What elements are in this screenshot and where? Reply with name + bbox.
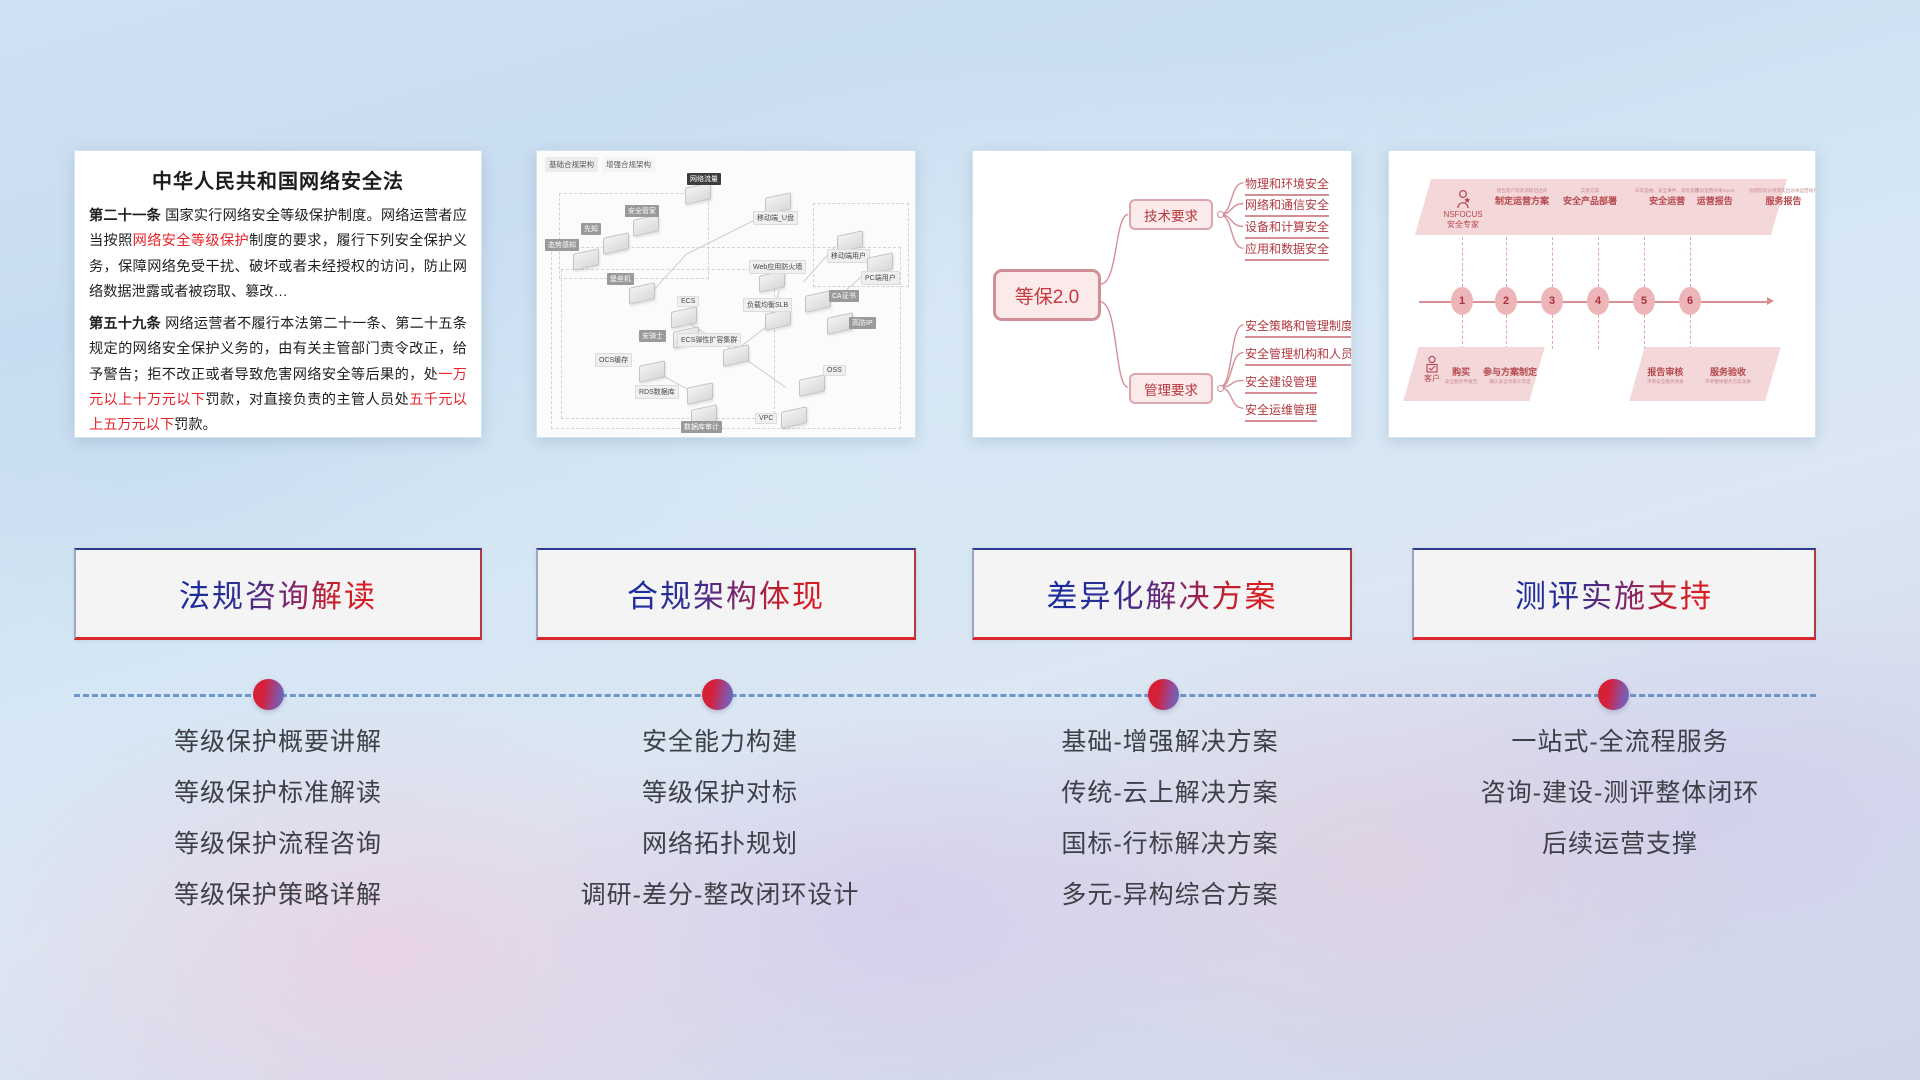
arch-node[interactable]: OSS xyxy=(799,377,825,394)
card-dengbao-mindmap[interactable]: 等保2.0 技术要求 管理要求 物理和环境安全网络和通信安全设备和计算安全应用和… xyxy=(972,150,1352,438)
law-text-run: 罚款。 xyxy=(174,417,217,433)
process-dash-down xyxy=(1462,315,1463,349)
process-dash-down xyxy=(1598,315,1599,349)
arch-node[interactable]: PC端用户 xyxy=(867,255,893,272)
customer-label: 客户 xyxy=(1415,374,1449,384)
mindmap-leaf[interactable]: 安全管理机构和人员 xyxy=(1245,345,1352,366)
detail-list-item: 等级保护策略详解 xyxy=(74,883,482,908)
process-top-item[interactable]: 实施方案安全产品部署 xyxy=(1563,187,1617,207)
arch-node-label: 态势感知 xyxy=(545,239,579,251)
process-band-customer-right: 报告审核评审安全服务效果服务验收评审整体服务方案效果 xyxy=(1629,347,1780,401)
process-band-customer-left: 客户 购买安全服务申报告参与方案制定确认安全项目计年度 xyxy=(1403,347,1544,401)
timeline xyxy=(0,660,1920,730)
process-step-2[interactable]: 2 xyxy=(1495,287,1517,315)
arch-node-label: OSS xyxy=(823,365,846,376)
detail-list-item: 基础-增强解决方案 xyxy=(960,730,1380,755)
arch-node[interactable]: RDS数据库 xyxy=(687,385,713,402)
process-dash-down xyxy=(1644,315,1645,349)
process-bottom-item[interactable]: 服务验收评审整体服务方案效果 xyxy=(1705,365,1751,385)
process-diagram: NSFOCUS 安全专家 结合客户现状调研后出具制定运营方案实施方案安全产品部署… xyxy=(1389,151,1815,437)
mindmap-leaf[interactable]: 安全策略和管理制度 xyxy=(1245,317,1352,338)
header-label-1: 合规架构体现 xyxy=(627,571,825,616)
arch-node-label: 高防IP xyxy=(849,317,876,329)
mindmap-leaf[interactable]: 网络和通信安全 xyxy=(1245,196,1329,217)
top-card-row: 中华人民共和国网络安全法 第二十一条 国家实行网络安全等级保护制度。网络运营者应… xyxy=(0,0,1920,470)
header-box-assessment-support[interactable]: 测评实施支持 xyxy=(1412,548,1816,640)
arch-node-icon xyxy=(799,374,825,397)
arch-node-label: 网络流量 xyxy=(687,173,721,185)
arch-node-label: 安全管家 xyxy=(625,205,659,217)
arch-node[interactable]: OCS缓存 xyxy=(639,363,665,380)
detail-list-column-1: 安全能力构建等级保护对标网络拓扑规划调研-差分-整改闭环设计 xyxy=(510,730,930,934)
arch-node[interactable]: Web应用防火墙 xyxy=(759,273,785,290)
law-article-number: 第五十九条 xyxy=(89,316,161,332)
header-label-0: 法规咨询解读 xyxy=(179,571,377,616)
process-step-3[interactable]: 3 xyxy=(1541,287,1563,315)
process-provider-brand: NSFOCUS 安全专家 xyxy=(1433,189,1493,230)
detail-list-item: 等级保护标准解读 xyxy=(74,781,482,806)
arch-node-icon xyxy=(633,214,659,237)
arch-node[interactable]: 安全管家 xyxy=(633,217,659,234)
process-dash-down xyxy=(1690,315,1691,349)
process-item-sub: 评审安全服务效果 xyxy=(1647,379,1684,385)
detail-list-item: 调研-差分-整改闭环设计 xyxy=(510,883,930,908)
process-item-caption: 安全产品部署 xyxy=(1563,194,1617,207)
arch-tab-basic[interactable]: 基础合规架构 xyxy=(545,157,598,172)
process-step-1[interactable]: 1 xyxy=(1451,287,1473,315)
arch-node[interactable]: 高防IP xyxy=(827,315,853,332)
process-step-5[interactable]: 5 xyxy=(1633,287,1655,315)
arch-node-label: Web应用防火墙 xyxy=(749,260,806,274)
arch-node-icon xyxy=(603,232,629,255)
header-box-compliance-architecture[interactable]: 合规架构体现 xyxy=(536,548,916,640)
process-item-sub: 评审整体服务方案效果 xyxy=(1705,379,1751,385)
mindmap-branch-technical[interactable]: 技术要求 xyxy=(1129,199,1213,230)
process-dash-up xyxy=(1552,237,1553,287)
arch-node-label: 数据库审计 xyxy=(681,421,722,433)
arch-node[interactable]: 移动端_U盘 xyxy=(765,195,791,212)
arch-node-label: RDS数据库 xyxy=(635,385,679,399)
process-dash-up xyxy=(1598,237,1599,287)
arch-node-label: 移动端用户 xyxy=(827,249,870,263)
mindmap-diagram: 等保2.0 技术要求 管理要求 物理和环境安全网络和通信安全设备和计算安全应用和… xyxy=(973,151,1351,437)
arch-node-label: ECS弹性扩容集群 xyxy=(677,333,741,347)
process-item-caption: 运营报告 xyxy=(1695,194,1735,207)
process-item-caption: 参与方案制定 xyxy=(1483,365,1537,378)
arch-node-label: 堡垒机 xyxy=(607,273,634,285)
process-item-caption: 报告审核 xyxy=(1647,365,1684,378)
arch-node-label: PC端用户 xyxy=(861,271,900,285)
process-item-caption: 服务报告 xyxy=(1749,194,1816,207)
process-item-sub: 确认安全项目计年度 xyxy=(1483,379,1537,385)
arch-node[interactable]: CA证书 xyxy=(805,293,831,310)
detail-list-item: 网络拓扑规划 xyxy=(510,832,930,857)
process-top-item[interactable]: 日常运维、安全事件、高危处理安全运营 xyxy=(1635,187,1699,207)
process-top-item[interactable]: 阶段运营效果report运营报告 xyxy=(1695,187,1735,207)
mindmap-root-node[interactable]: 等保2.0 xyxy=(993,269,1101,321)
arch-node[interactable]: VPC xyxy=(781,409,807,426)
expert-person-icon xyxy=(1454,189,1472,209)
detail-list-item: 等级保护概要讲解 xyxy=(74,730,482,755)
process-dash-up xyxy=(1690,237,1691,287)
arch-node-icon xyxy=(573,248,599,271)
architecture-tabs: 基础合规架构 增强合规架构 xyxy=(545,157,655,172)
law-card-title: 中华人民共和国网络安全法 xyxy=(75,151,481,204)
arch-node[interactable]: 负载均衡SLB xyxy=(765,311,791,328)
detail-list-column-3: 一站式-全流程服务咨询-建设-测评整体闭环后续运营支撑 xyxy=(1410,730,1830,883)
card-service-process[interactable]: NSFOCUS 安全专家 结合客户现状调研后出具制定运营方案实施方案安全产品部署… xyxy=(1388,150,1816,438)
law-paragraph: 第五十九条 网络运营者不履行本法第二十一条、第二十五条规定的网络安全保护义务的，… xyxy=(89,312,467,438)
arch-node-label: VPC xyxy=(755,413,777,424)
arch-node-icon xyxy=(629,282,655,305)
timeline-dashed-line xyxy=(74,694,1816,697)
mindmap-leaf[interactable]: 安全运维管理 xyxy=(1245,401,1317,422)
detail-list-item: 等级保护流程咨询 xyxy=(74,832,482,857)
process-step-4[interactable]: 4 xyxy=(1587,287,1609,315)
arch-node-icon xyxy=(671,306,697,329)
process-band-provider: NSFOCUS 安全专家 结合客户现状调研后出具制定运营方案实施方案安全产品部署… xyxy=(1415,179,1787,235)
timeline-dot-0[interactable] xyxy=(253,679,284,710)
detail-list-item: 后续运营支撑 xyxy=(1410,832,1830,857)
process-bottom-item[interactable]: 报告审核评审安全服务效果 xyxy=(1647,365,1684,385)
process-step-6[interactable]: 6 xyxy=(1679,287,1701,315)
mindmap-leaf[interactable]: 安全建设管理 xyxy=(1245,373,1317,394)
mindmap-collapse-dot-mgmt[interactable] xyxy=(1217,385,1224,392)
process-dash-down xyxy=(1506,315,1507,349)
process-item-caption: 购买 xyxy=(1445,365,1477,378)
mindmap-branch-management[interactable]: 管理要求 xyxy=(1129,373,1213,404)
arch-node[interactable]: 态势感知 xyxy=(573,251,599,268)
arch-node[interactable]: 网络流量 xyxy=(685,185,711,202)
detail-list-item: 多元-异构综合方案 xyxy=(960,883,1380,908)
law-text-highlight: 网络安全等级保护 xyxy=(133,233,249,249)
arch-node[interactable]: 先知 xyxy=(603,235,629,252)
arch-node-icon xyxy=(687,382,713,405)
arch-node-label: 先知 xyxy=(581,223,601,235)
process-dash-up xyxy=(1506,237,1507,287)
arch-node-icon xyxy=(639,360,665,383)
detail-list-column-0: 等级保护概要讲解等级保护标准解读等级保护流程咨询等级保护策略详解 xyxy=(74,730,482,934)
process-dash-down xyxy=(1552,315,1553,349)
arch-node-icon xyxy=(781,406,807,429)
process-top-item[interactable]: 结合客户现状调研后出具制定运营方案 xyxy=(1495,187,1549,207)
arch-tab-enhanced[interactable]: 增强合规架构 xyxy=(602,157,655,172)
brand-line-1: NSFOCUS xyxy=(1433,210,1493,220)
process-item-sub: 安全服务申报告 xyxy=(1445,379,1477,385)
mindmap-leaf[interactable]: 物理和环境安全 xyxy=(1245,175,1329,196)
law-text-run: 罚款，对直接负责的主管人员处 xyxy=(205,392,409,408)
architecture-diagram: 基础合规架构 增强合规架构 网络流量安全管家先知态势感知堡垒机ECS安骑士OCS… xyxy=(537,151,915,437)
timeline-dot-3[interactable] xyxy=(1598,679,1629,710)
process-item-caption: 安全运营 xyxy=(1635,194,1699,207)
header-box-row: 法规咨询解读 合规架构体现 差异化解决方案 测评实施支持 xyxy=(0,548,1920,648)
arch-node[interactable]: 堡垒机 xyxy=(629,285,655,302)
process-bottom-item[interactable]: 购买安全服务申报告 xyxy=(1445,365,1477,385)
law-card-body: 第二十一条 国家实行网络安全等级保护制度。网络运营者应当按照网络安全等级保护制度… xyxy=(75,204,481,438)
header-label-3: 测评实施支持 xyxy=(1515,571,1713,616)
process-item-caption: 服务验收 xyxy=(1705,365,1751,378)
process-customer-brand: 客户 xyxy=(1415,355,1449,384)
law-paragraph: 第二十一条 国家实行网络安全等级保护制度。网络运营者应当按照网络安全等级保护制度… xyxy=(89,204,467,305)
mindmap-leaf[interactable]: 应用和数据安全 xyxy=(1245,240,1329,261)
header-box-regulation-consulting[interactable]: 法规咨询解读 xyxy=(74,548,482,640)
arch-node[interactable]: ECS xyxy=(671,309,697,326)
arch-node[interactable]: 移动端用户 xyxy=(837,233,863,250)
process-top-item[interactable]: 总结阶段分项落实出总体运营效果服务报告 xyxy=(1749,187,1816,207)
mindmap-leaf[interactable]: 设备和计算安全 xyxy=(1245,218,1329,239)
arch-node-icon xyxy=(723,344,749,367)
mindmap-collapse-dot-tech[interactable] xyxy=(1217,211,1224,218)
arch-node-icon xyxy=(805,290,831,313)
timeline-dot-2[interactable] xyxy=(1148,679,1179,710)
detail-list-item: 国标-行标解决方案 xyxy=(960,832,1380,857)
process-item-caption: 制定运营方案 xyxy=(1495,194,1549,207)
detail-list-item: 咨询-建设-测评整体闭环 xyxy=(1410,781,1830,806)
detail-list-item: 传统-云上解决方案 xyxy=(960,781,1380,806)
card-compliance-architecture[interactable]: 基础合规架构 增强合规架构 网络流量安全管家先知态势感知堡垒机ECS安骑士OCS… xyxy=(536,150,916,438)
detail-list-item: 等级保护对标 xyxy=(510,781,930,806)
arch-node-icon xyxy=(685,182,711,205)
law-article-number: 第二十一条 xyxy=(89,208,161,224)
card-cybersecurity-law[interactable]: 中华人民共和国网络安全法 第二十一条 国家实行网络安全等级保护制度。网络运营者应… xyxy=(74,150,482,438)
arch-node-label: 安骑士 xyxy=(639,330,666,342)
timeline-dot-1[interactable] xyxy=(702,679,733,710)
arch-node-label: 负载均衡SLB xyxy=(743,298,792,312)
detail-list-column-2: 基础-增强解决方案传统-云上解决方案国标-行标解决方案多元-异构综合方案 xyxy=(960,730,1380,934)
arch-node[interactable]: ECS弹性扩容集群 xyxy=(723,347,749,364)
process-axis-arrow-icon xyxy=(1767,297,1774,305)
detail-list-item: 安全能力构建 xyxy=(510,730,930,755)
arch-node-label: OCS缓存 xyxy=(595,353,632,367)
arch-node-label: ECS xyxy=(677,296,699,307)
arch-node-label: 移动端_U盘 xyxy=(753,211,798,225)
customer-person-icon xyxy=(1424,355,1440,373)
header-box-differentiated-solution[interactable]: 差异化解决方案 xyxy=(972,548,1352,640)
process-dash-up xyxy=(1644,237,1645,287)
header-label-2: 差异化解决方案 xyxy=(1047,571,1278,616)
detail-list-item: 一站式-全流程服务 xyxy=(1410,730,1830,755)
arch-node[interactable]: 数据库审计 xyxy=(691,407,717,424)
arch-node-label: CA证书 xyxy=(829,290,859,302)
brand-line-2: 安全专家 xyxy=(1433,220,1493,230)
detail-list-row: 等级保护概要讲解等级保护标准解读等级保护流程咨询等级保护策略详解 安全能力构建等… xyxy=(0,730,1920,1030)
process-bottom-item[interactable]: 参与方案制定确认安全项目计年度 xyxy=(1483,365,1537,385)
process-dash-up xyxy=(1462,237,1463,287)
